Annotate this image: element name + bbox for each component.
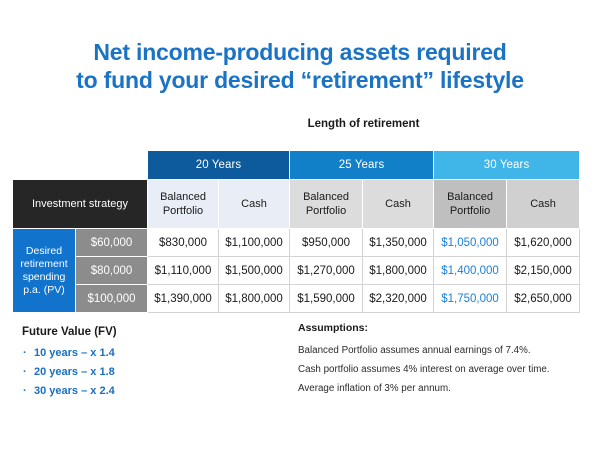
group-header-30-years: 30 Years (434, 151, 580, 180)
subheader-25y-cash: Cash (363, 180, 434, 229)
page-title-line-1: Net income-producing assets required (0, 38, 600, 66)
subheader-text-line2: Portfolio (450, 205, 490, 217)
spend-level-value: $60,000 (76, 229, 148, 257)
cell-30y-cash: $1,620,000 (507, 229, 580, 257)
spend-level-value: $100,000 (76, 285, 148, 313)
length-of-retirement-caption: Length of retirement (147, 118, 580, 130)
group-header-spacer (13, 151, 148, 180)
investment-strategy-header: Investment strategy (13, 180, 148, 229)
cell-20y-balanced: $1,390,000 (148, 285, 219, 313)
cell-25y-cash: $2,320,000 (363, 285, 434, 313)
subheader-text-line1: Balanced (160, 191, 206, 203)
subheader-25y-balanced-portfolio: Balanced Portfolio (290, 180, 363, 229)
desired-spending-row-label: Desired retirement spending p.a. (PV) (13, 229, 76, 313)
cell-20y-cash: $1,100,000 (219, 229, 290, 257)
cell-25y-cash: $1,350,000 (363, 229, 434, 257)
assumptions-title: Assumptions: (298, 322, 588, 334)
cell-25y-balanced: $1,590,000 (290, 285, 363, 313)
table-row: Desired retirement spending p.a. (PV) $6… (13, 229, 580, 257)
cell-25y-balanced: $1,270,000 (290, 257, 363, 285)
cell-30y-balanced: $1,400,000 (434, 257, 507, 285)
bullet-icon: · (23, 382, 27, 401)
list-item: · 10 years – x 1.4 (22, 344, 272, 363)
cell-20y-cash: $1,800,000 (219, 285, 290, 313)
cell-20y-balanced: $830,000 (148, 229, 219, 257)
subheader-20y-cash: Cash (219, 180, 290, 229)
subheader-text-line1: Balanced (447, 191, 493, 203)
future-value-block: Future Value (FV) · 10 years – x 1.4 · 2… (22, 326, 272, 401)
bullet-icon: · (23, 344, 27, 363)
page-title-line-2: to fund your desired “retirement” lifest… (0, 66, 600, 94)
cell-30y-cash: $2,150,000 (507, 257, 580, 285)
table-row: $80,000 $1,110,000 $1,500,000 $1,270,000… (13, 257, 580, 285)
retirement-assets-table: 20 Years 25 Years 30 Years Investment st… (12, 150, 580, 313)
group-header-20-years: 20 Years (148, 151, 290, 180)
spend-level-value: $80,000 (76, 257, 148, 285)
subheader-text-line1: Balanced (303, 191, 349, 203)
table-subheader-row: Investment strategy Balanced Portfolio C… (13, 180, 580, 229)
future-value-item-text: 20 years – x 1.8 (34, 366, 115, 378)
subheader-text-line2: Portfolio (163, 205, 203, 217)
subheader-text-line2: Portfolio (306, 205, 346, 217)
subheader-30y-balanced-portfolio: Balanced Portfolio (434, 180, 507, 229)
cell-30y-balanced: $1,050,000 (434, 229, 507, 257)
assumptions-item: Balanced Portfolio assumes annual earnin… (298, 341, 588, 360)
cell-30y-cash: $2,650,000 (507, 285, 580, 313)
cell-25y-balanced: $950,000 (290, 229, 363, 257)
cell-20y-balanced: $1,110,000 (148, 257, 219, 285)
future-value-title: Future Value (FV) (22, 326, 272, 338)
subheader-30y-cash: Cash (507, 180, 580, 229)
cell-20y-cash: $1,500,000 (219, 257, 290, 285)
table-row: $100,000 $1,390,000 $1,800,000 $1,590,00… (13, 285, 580, 313)
cell-25y-cash: $1,800,000 (363, 257, 434, 285)
assumptions-block: Assumptions: Balanced Portfolio assumes … (298, 322, 588, 398)
table-group-header-row: 20 Years 25 Years 30 Years (13, 151, 580, 180)
subheader-20y-balanced-portfolio: Balanced Portfolio (148, 180, 219, 229)
list-item: · 30 years – x 2.4 (22, 382, 272, 401)
cell-30y-balanced: $1,750,000 (434, 285, 507, 313)
page-title: Net income-producing assets required to … (0, 38, 600, 94)
assumptions-item: Average inflation of 3% per annum. (298, 379, 588, 398)
assumptions-item: Cash portfolio assumes 4% interest on av… (298, 360, 588, 379)
list-item: · 20 years – x 1.8 (22, 363, 272, 382)
group-header-25-years: 25 Years (290, 151, 434, 180)
future-value-item-text: 10 years – x 1.4 (34, 347, 115, 359)
bullet-icon: · (23, 363, 27, 382)
future-value-item-text: 30 years – x 2.4 (34, 385, 115, 397)
